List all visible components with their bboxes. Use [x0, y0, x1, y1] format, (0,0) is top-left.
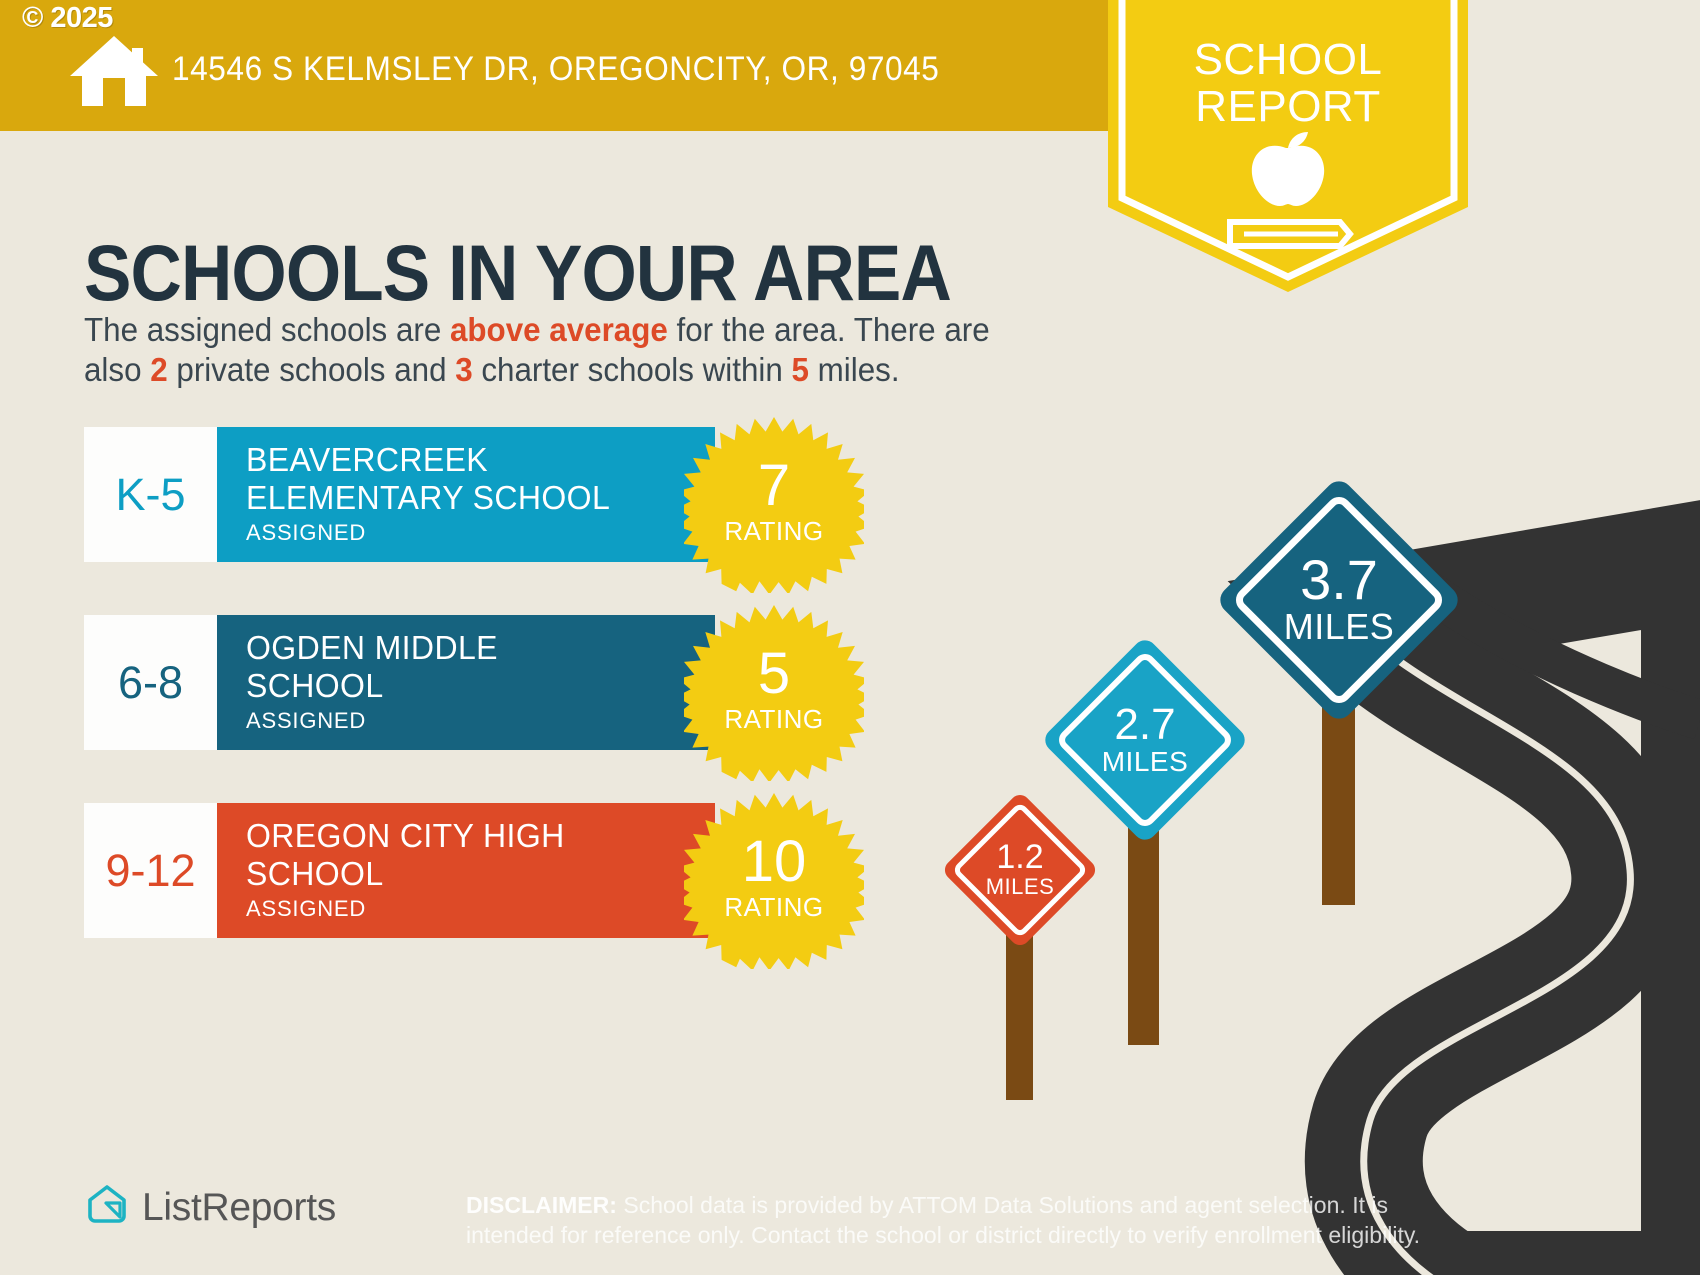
- school-report-badge: SCHOOL REPORT: [1108, 0, 1468, 297]
- road-scene: 3.7 MILES 2.7 MILES: [930, 420, 1700, 1275]
- school-grade-range: K-5: [84, 427, 217, 562]
- school-grade-range: 6-8: [84, 615, 217, 750]
- school-grade-range: 9-12: [84, 803, 217, 938]
- distance-sign-3: 3.7 MILES: [1214, 475, 1464, 905]
- sign-post: [1322, 705, 1355, 905]
- starburst-shape: [684, 413, 864, 593]
- school-info: OREGON CITY HIGH SCHOOL ASSIGNED: [217, 803, 715, 938]
- school-status: ASSIGNED: [246, 520, 715, 546]
- page-title: SCHOOLS IN YOUR AREA: [84, 231, 951, 315]
- school-rating-badge: 7 RATING: [684, 413, 864, 593]
- school-row[interactable]: K-5 BEAVERCREEK ELEMENTARY SCHOOL ASSIGN…: [84, 427, 874, 562]
- school-status: ASSIGNED: [246, 896, 715, 922]
- school-name-line1: OGDEN MIDDLE: [246, 629, 701, 667]
- school-name-line2: SCHOOL: [246, 667, 701, 705]
- school-rating-badge: 10 RATING: [684, 789, 864, 969]
- subtitle-part5: miles.: [809, 351, 900, 388]
- listreports-wordmark: ListReports: [142, 1186, 336, 1230]
- starburst-shape: [684, 789, 864, 969]
- subtitle-part3: private schools and: [168, 351, 456, 388]
- school-report-infographic: 3.7 MILES 2.7 MILES: [0, 0, 1700, 1275]
- listreports-house-tag-icon: [85, 1183, 129, 1232]
- property-address: 14546 S KELMSLEY DR, OREGONCITY, OR, 970…: [172, 50, 939, 89]
- school-info: OGDEN MIDDLE SCHOOL ASSIGNED: [217, 615, 715, 750]
- subtitle-highlight-rating: above average: [450, 311, 668, 348]
- sign-post: [1006, 935, 1033, 1100]
- school-name-line1: OREGON CITY HIGH: [246, 817, 701, 855]
- copyright-label: © 2025: [22, 2, 113, 35]
- subtitle-highlight-private-count: 2: [150, 351, 167, 388]
- subtitle-highlight-charter-count: 3: [455, 351, 472, 388]
- starburst-shape: [684, 601, 864, 781]
- school-name-line1: BEAVERCREEK: [246, 441, 701, 479]
- sign-post: [1128, 825, 1159, 1045]
- school-info: BEAVERCREEK ELEMENTARY SCHOOL ASSIGNED: [217, 427, 715, 562]
- distance-sign-1: 1.2 MILES: [940, 790, 1100, 1080]
- school-name: OGDEN MIDDLE SCHOOL: [246, 629, 701, 705]
- sign-plate: 3.7 MILES: [1214, 475, 1464, 725]
- school-row[interactable]: 6-8 OGDEN MIDDLE SCHOOL ASSIGNED 5 RATIN…: [84, 615, 874, 750]
- disclaimer: DISCLAIMER: School data is provided by A…: [466, 1190, 1456, 1250]
- page-subtitle: The assigned schools are above average f…: [84, 310, 1044, 390]
- home-icon: [68, 34, 160, 108]
- subtitle-highlight-radius: 5: [792, 351, 809, 388]
- subtitle-part4: charter schools within: [473, 351, 792, 388]
- school-row[interactable]: 9-12 OREGON CITY HIGH SCHOOL ASSIGNED 10…: [84, 803, 874, 938]
- school-list: K-5 BEAVERCREEK ELEMENTARY SCHOOL ASSIGN…: [84, 427, 874, 991]
- disclaimer-label: DISCLAIMER:: [466, 1192, 617, 1218]
- listreports-logo[interactable]: ListReports: [85, 1183, 336, 1232]
- school-status: ASSIGNED: [246, 708, 715, 734]
- school-name: BEAVERCREEK ELEMENTARY SCHOOL: [246, 441, 701, 517]
- school-rating-badge: 5 RATING: [684, 601, 864, 781]
- subtitle-part1: The assigned schools are: [84, 311, 450, 348]
- school-name-line2: SCHOOL: [246, 855, 701, 893]
- school-name-line2: ELEMENTARY SCHOOL: [246, 479, 701, 517]
- sign-plate: 1.2 MILES: [940, 790, 1100, 950]
- school-name: OREGON CITY HIGH SCHOOL: [246, 817, 701, 893]
